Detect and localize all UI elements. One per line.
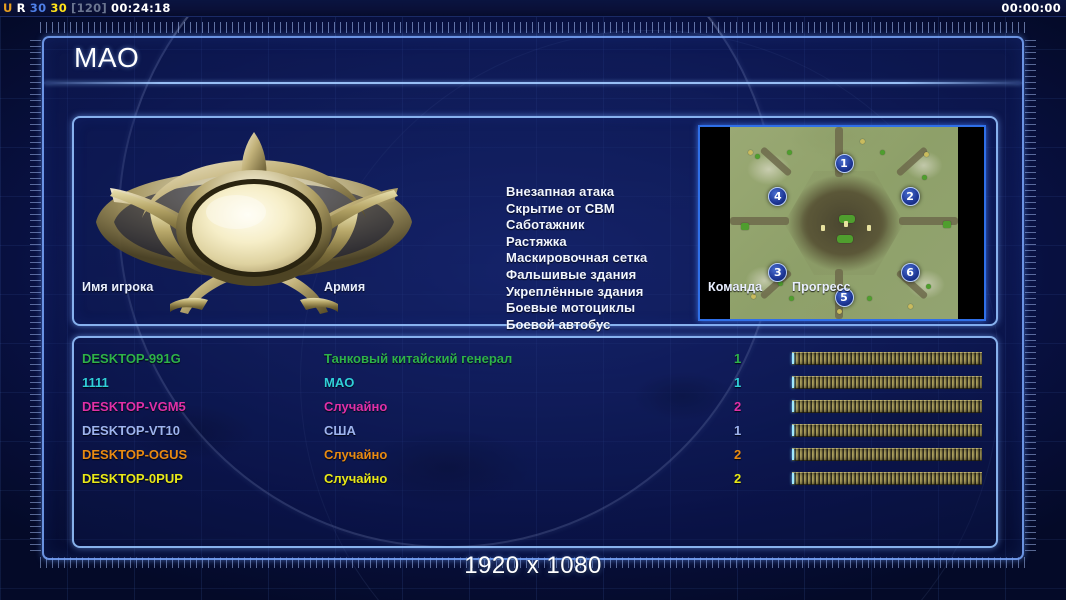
player-progress-bar bbox=[792, 376, 982, 389]
map-trees bbox=[787, 150, 792, 155]
player-team: 1 bbox=[734, 375, 741, 390]
page-title: MAO bbox=[74, 42, 139, 74]
status-value-yellow: 30 bbox=[50, 1, 67, 15]
title-divider bbox=[44, 82, 1022, 84]
ability-item: Растяжка bbox=[506, 234, 647, 251]
status-bracket: [120] bbox=[71, 1, 107, 15]
player-row[interactable]: DESKTOP-0PUP Случайно 2 bbox=[74, 468, 996, 492]
ruler-right bbox=[1025, 40, 1036, 556]
player-team: 2 bbox=[734, 399, 741, 414]
player-name: DESKTOP-VT10 bbox=[82, 423, 180, 438]
status-bar: U R 30 30 [120] 00:24:18 00:00:00 bbox=[0, 0, 1066, 17]
player-army: Случайно bbox=[324, 471, 387, 486]
player-team: 2 bbox=[734, 447, 741, 462]
main-panel: MAO bbox=[42, 36, 1024, 560]
player-row[interactable]: 1111 MAO 1 bbox=[74, 372, 996, 396]
player-team: 1 bbox=[734, 351, 741, 366]
map-trees bbox=[908, 304, 913, 309]
player-name: DESKTOP-VGM5 bbox=[82, 399, 186, 414]
column-header-name: Имя игрока bbox=[82, 280, 153, 294]
map-trees bbox=[922, 175, 927, 180]
player-name: DESKTOP-0PUP bbox=[82, 471, 183, 486]
map-trees bbox=[755, 154, 760, 159]
status-clock: 00:00:00 bbox=[1001, 1, 1061, 15]
map-trees bbox=[748, 150, 753, 155]
status-prefix-r: R bbox=[17, 1, 26, 15]
status-bar-right: 00:00:00 bbox=[1001, 1, 1066, 15]
map-start-position-4[interactable]: 4 bbox=[768, 187, 787, 206]
map-trees bbox=[741, 223, 749, 230]
player-progress-bar bbox=[792, 448, 982, 461]
player-name: 1111 bbox=[82, 375, 109, 390]
game-lobby-screen: U R 30 30 [120] 00:24:18 00:00:00 MAO bbox=[0, 0, 1066, 600]
faction-abilities-list: Внезапная атака Скрытие от СВМ Саботажни… bbox=[506, 184, 647, 333]
column-header-army: Армия bbox=[324, 280, 365, 294]
player-progress-bar bbox=[792, 472, 982, 485]
status-bar-left: U R 30 30 [120] 00:24:18 bbox=[0, 1, 171, 15]
ability-item: Маскировочная сетка bbox=[506, 250, 647, 267]
player-list-header: Имя игрока Армия Команда Прогресс bbox=[74, 280, 996, 302]
player-name: DESKTOP-OGUS bbox=[82, 447, 187, 462]
player-row[interactable]: DESKTOP-OGUS Случайно 2 bbox=[74, 444, 996, 468]
status-prefix-u: U bbox=[3, 1, 13, 15]
player-progress-bar bbox=[792, 352, 982, 365]
player-army: США bbox=[324, 423, 356, 438]
player-team: 1 bbox=[734, 423, 741, 438]
map-start-label: 1 bbox=[840, 157, 848, 170]
player-row[interactable]: DESKTOP-VT10 США 1 bbox=[74, 420, 996, 444]
map-supply bbox=[867, 225, 871, 231]
column-header-progress: Прогресс bbox=[792, 280, 851, 294]
resolution-label: 1920 x 1080 bbox=[0, 552, 1066, 580]
player-progress-bar bbox=[792, 424, 982, 437]
map-trees bbox=[924, 152, 929, 157]
ruler-top bbox=[40, 22, 1026, 33]
map-trees bbox=[837, 235, 853, 243]
map-road bbox=[895, 146, 928, 177]
player-army: MAO bbox=[324, 375, 354, 390]
map-start-position-1[interactable]: 1 bbox=[835, 154, 854, 173]
column-header-team: Команда bbox=[708, 280, 762, 294]
ability-item: Саботажник bbox=[506, 217, 647, 234]
ruler-left bbox=[30, 40, 41, 556]
player-army: Случайно bbox=[324, 447, 387, 462]
ability-item: Боевой автобус bbox=[506, 317, 647, 334]
player-row[interactable]: DESKTOP-VGM5 Случайно 2 bbox=[74, 396, 996, 420]
map-supply bbox=[821, 225, 825, 231]
player-team: 2 bbox=[734, 471, 741, 486]
map-start-label: 4 bbox=[774, 190, 782, 203]
player-row[interactable]: DESKTOP-991G Танковый китайский генерал … bbox=[74, 348, 996, 372]
ability-item: Внезапная атака bbox=[506, 184, 647, 201]
map-road bbox=[730, 217, 789, 225]
map-start-position-2[interactable]: 2 bbox=[901, 187, 920, 206]
map-start-label: 2 bbox=[906, 190, 914, 203]
map-supply bbox=[844, 221, 848, 227]
map-trees bbox=[860, 139, 865, 144]
map-trees bbox=[943, 221, 951, 228]
player-name: DESKTOP-991G bbox=[82, 351, 181, 366]
map-trees bbox=[880, 150, 885, 155]
map-start-label: 3 bbox=[774, 266, 782, 279]
status-timer: 00:24:18 bbox=[111, 1, 171, 15]
ability-item: Скрытие от СВМ bbox=[506, 201, 647, 218]
player-list-panel: Имя игрока Армия Команда Прогресс DESKTO… bbox=[72, 336, 998, 548]
player-army: Танковый китайский генерал bbox=[324, 351, 512, 366]
status-value-blue: 30 bbox=[30, 1, 47, 15]
ability-item: Боевые мотоциклы bbox=[506, 300, 647, 317]
player-army: Случайно bbox=[324, 399, 387, 414]
player-progress-bar bbox=[792, 400, 982, 413]
map-start-label: 6 bbox=[906, 266, 914, 279]
